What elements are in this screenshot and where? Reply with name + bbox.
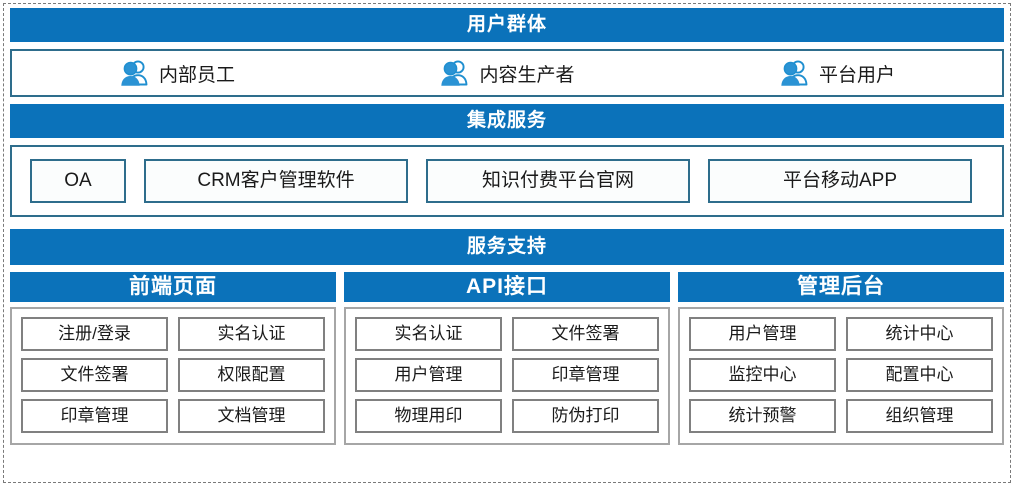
support-chip[interactable]: 用户管理 [355,358,502,392]
section-header-service-support: 服务支持 [10,229,1004,265]
support-chip[interactable]: 统计预警 [689,399,836,433]
chip-row: 物理用印 防伪打印 [355,399,659,433]
service-support-columns: 前端页面 注册/登录 实名认证 文件签署 权限配置 印章管理 文档管理 [10,272,1004,445]
integration-item-mobile-app[interactable]: 平台移动APP [708,159,972,203]
support-chip[interactable]: 文件签署 [21,358,168,392]
support-column-header: 管理后台 [678,272,1004,302]
support-chip[interactable]: 权限配置 [178,358,325,392]
diagram-stack: 用户群体 内部员工 [10,8,1004,445]
integration-item-website[interactable]: 知识付费平台官网 [426,159,690,203]
chip-row: 监控中心 配置中心 [689,358,993,392]
chip-row: 用户管理 统计中心 [689,317,993,351]
chip-row: 统计预警 组织管理 [689,399,993,433]
chip-row: 实名认证 文件签署 [355,317,659,351]
support-column-body: 实名认证 文件签署 用户管理 印章管理 物理用印 防伪打印 [344,307,670,445]
integration-item-oa[interactable]: OA [30,159,126,203]
user-group-item-label: 内部员工 [159,60,235,87]
support-column-body: 用户管理 统计中心 监控中心 配置中心 统计预警 组织管理 [678,307,1004,445]
user-group-item-label: 平台用户 [819,60,895,87]
support-chip[interactable]: 文档管理 [178,399,325,433]
support-chip[interactable]: 实名认证 [355,317,502,351]
section-header-integration-services: 集成服务 [10,104,1004,138]
support-chip[interactable]: 防伪打印 [512,399,659,433]
support-chip[interactable]: 注册/登录 [21,317,168,351]
chip-row: 注册/登录 实名认证 [21,317,325,351]
user-group-item-2[interactable]: 平台用户 [672,51,1002,95]
support-chip[interactable]: 组织管理 [846,399,993,433]
support-chip[interactable]: 用户管理 [689,317,836,351]
section-header-user-groups: 用户群体 [10,8,1004,42]
support-chip[interactable]: 印章管理 [512,358,659,392]
support-chip[interactable]: 监控中心 [689,358,836,392]
user-group-item-1[interactable]: 内容生产者 [342,51,672,95]
support-column-body: 注册/登录 实名认证 文件签署 权限配置 印章管理 文档管理 [10,307,336,445]
chip-row: 用户管理 印章管理 [355,358,659,392]
support-column-admin: 管理后台 用户管理 统计中心 监控中心 配置中心 统计预警 组织管理 [678,272,1004,445]
chip-row: 印章管理 文档管理 [21,399,325,433]
user-group-item-label: 内容生产者 [479,60,574,87]
users-icon [779,59,809,87]
user-groups-row: 内部员工 内容生产者 [10,49,1004,97]
user-group-item-0[interactable]: 内部员工 [12,51,342,95]
support-chip[interactable]: 配置中心 [846,358,993,392]
integration-item-crm[interactable]: CRM客户管理软件 [144,159,408,203]
support-chip[interactable]: 文件签署 [512,317,659,351]
support-column-api: API接口 实名认证 文件签署 用户管理 印章管理 物理用印 防伪打印 [344,272,670,445]
integration-services-row: OA CRM客户管理软件 知识付费平台官网 平台移动APP [10,145,1004,217]
users-icon [119,59,149,87]
support-chip[interactable]: 统计中心 [846,317,993,351]
support-chip[interactable]: 物理用印 [355,399,502,433]
support-chip[interactable]: 印章管理 [21,399,168,433]
support-column-frontend: 前端页面 注册/登录 实名认证 文件签署 权限配置 印章管理 文档管理 [10,272,336,445]
support-column-header: 前端页面 [10,272,336,302]
users-icon [439,59,469,87]
support-chip[interactable]: 实名认证 [178,317,325,351]
chip-row: 文件签署 权限配置 [21,358,325,392]
architecture-diagram: 用户群体 内部员工 [0,0,1015,487]
support-column-header: API接口 [344,272,670,302]
